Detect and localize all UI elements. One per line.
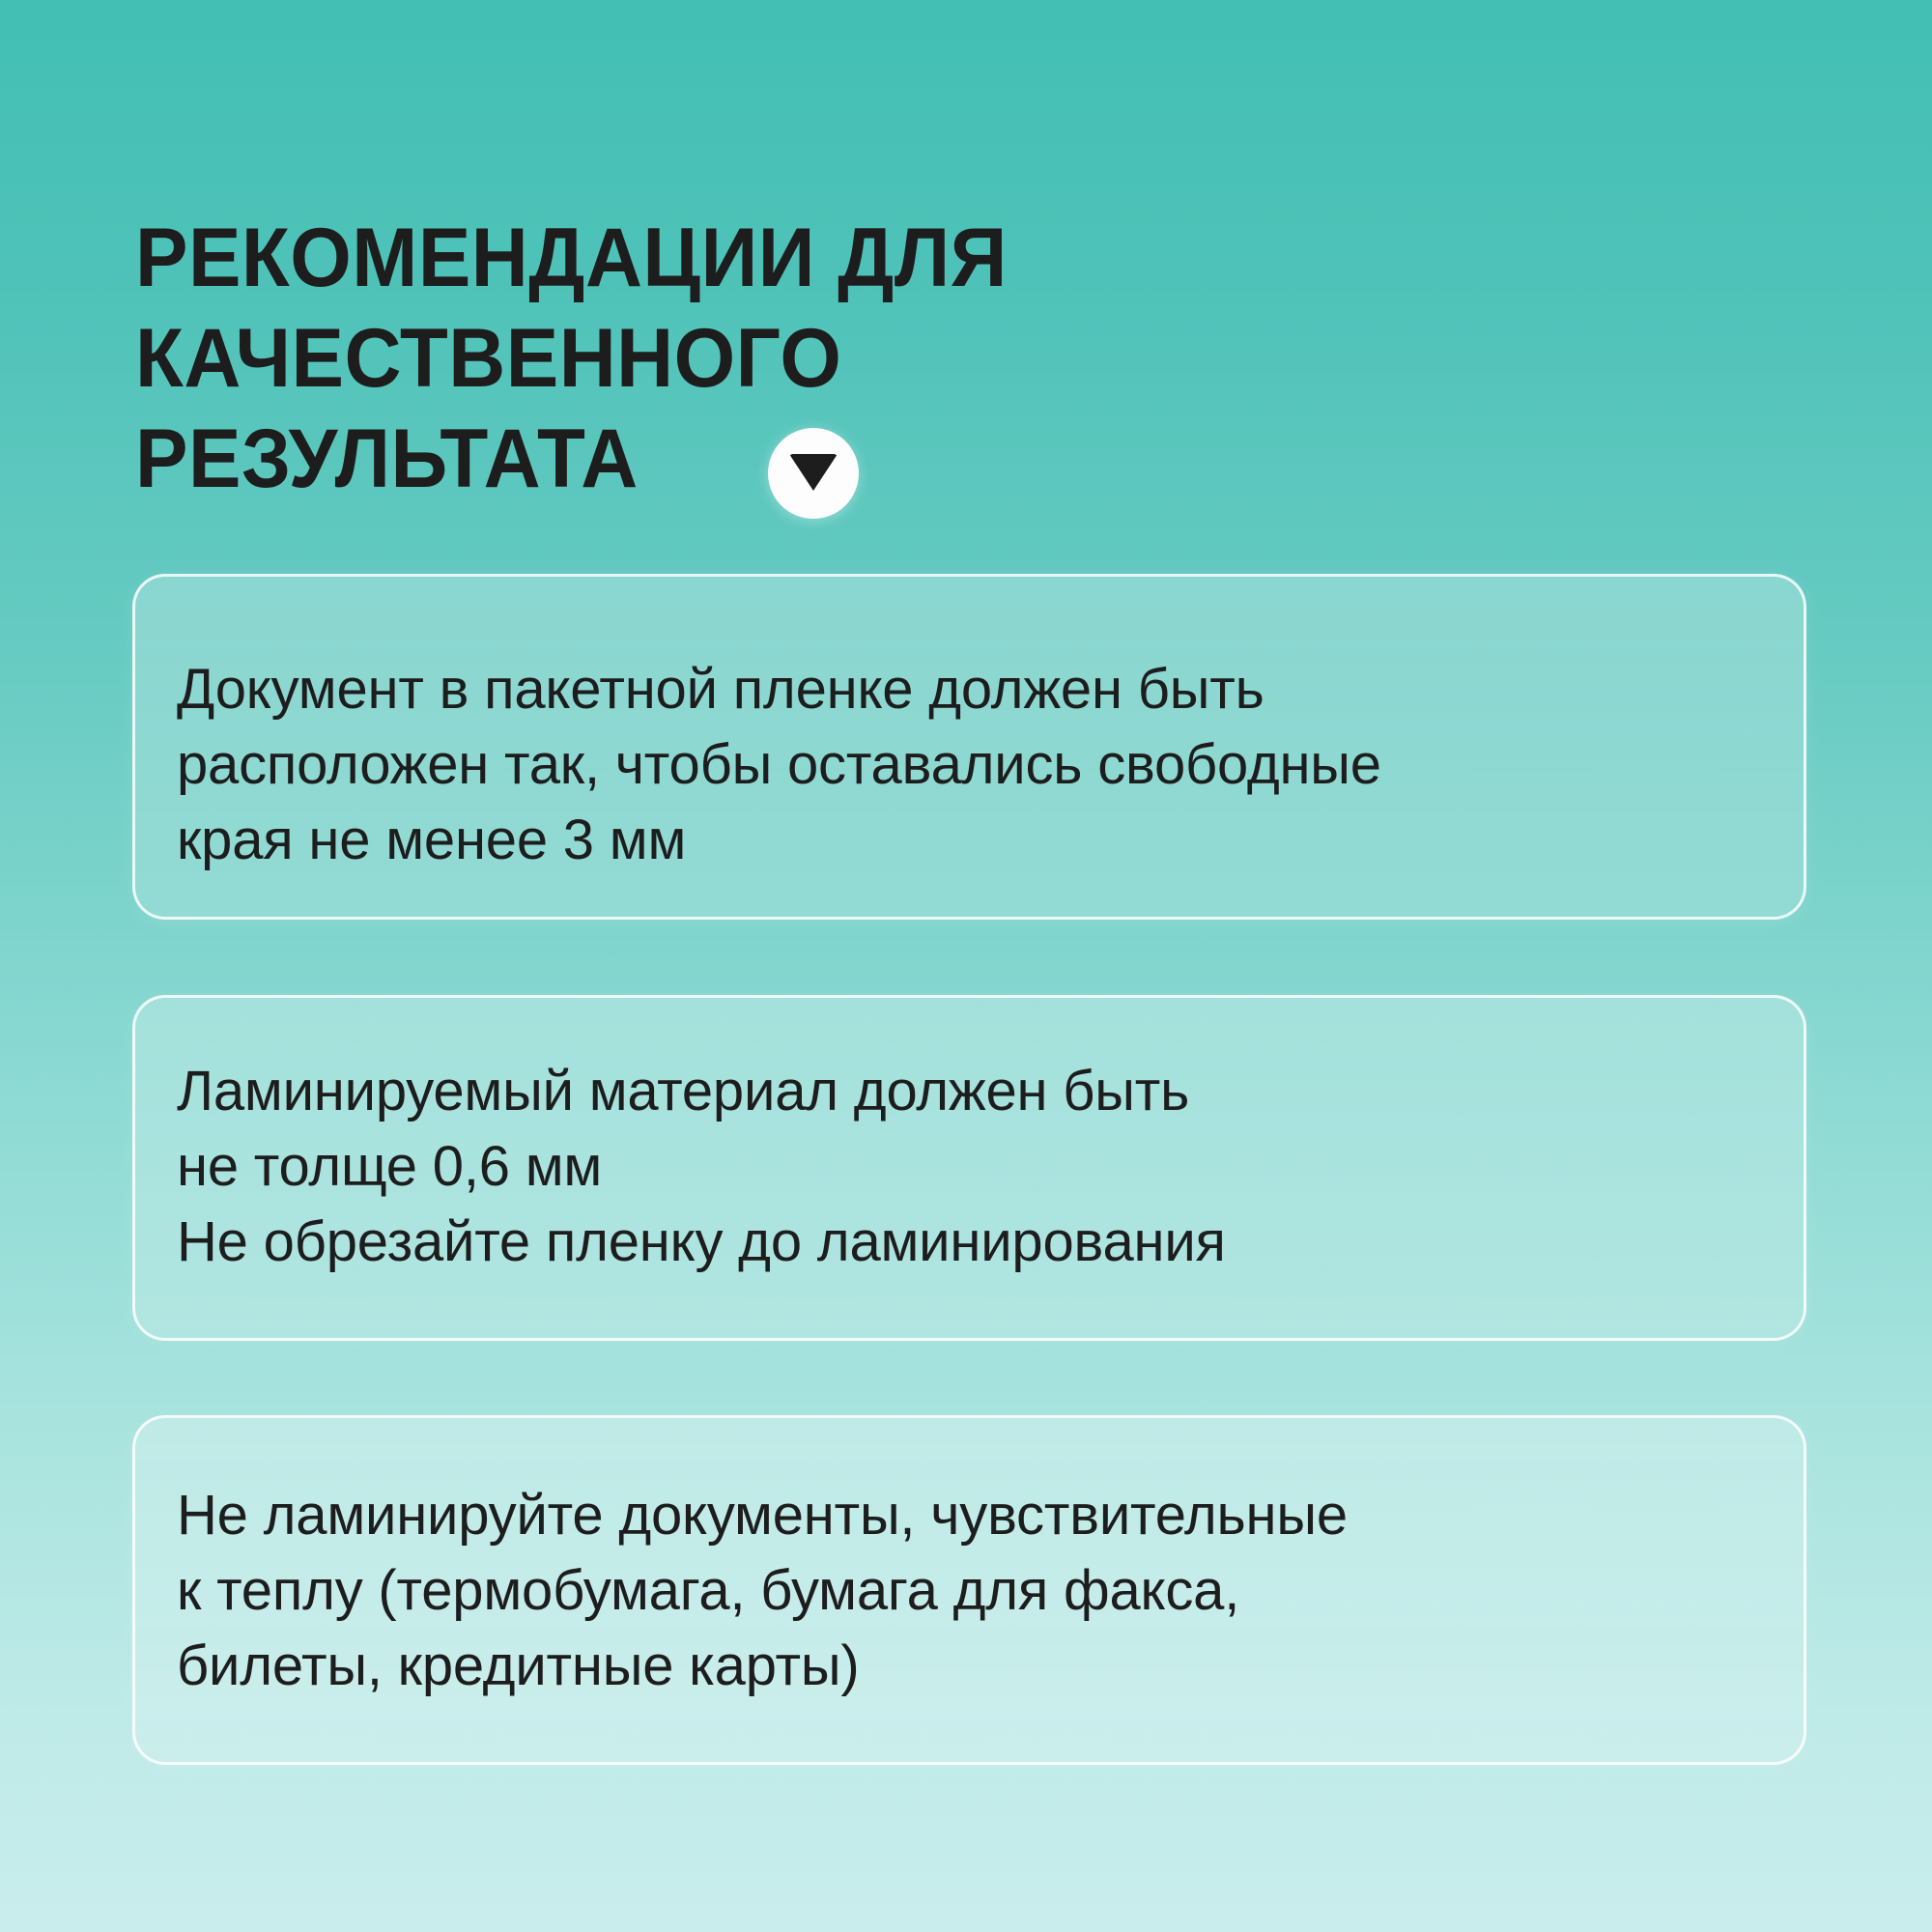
slide-root: РЕКОМЕНДАЦИИ ДЛЯ КАЧЕСТВЕННОГО РЕЗУЛЬТАТ… <box>0 0 1932 1932</box>
page-title-line-3: РЕЗУЛЬТАТА <box>135 409 1328 509</box>
recommendation-card-text: Ламинируемый материал должен быть не тол… <box>177 1054 1765 1280</box>
page-title-line-1: РЕКОМЕНДАЦИИ ДЛЯ <box>135 208 1328 308</box>
triangle-down-glyph <box>789 454 838 491</box>
recommendation-card: Ламинируемый материал должен быть не тол… <box>132 995 1806 1341</box>
page-title: РЕКОМЕНДАЦИИ ДЛЯ КАЧЕСТВЕННОГО РЕЗУЛЬТАТ… <box>135 208 1391 509</box>
recommendation-card: Документ в пакетной пленке должен быть р… <box>132 574 1806 920</box>
triangle-down-icon <box>768 428 859 519</box>
recommendation-card-text: Документ в пакетной пленке должен быть р… <box>177 652 1765 878</box>
recommendation-card-text: Не ламинируйте документы, чувствительные… <box>177 1478 1765 1704</box>
recommendation-card: Не ламинируйте документы, чувствительные… <box>132 1415 1806 1765</box>
page-title-line-2: КАЧЕСТВЕННОГО <box>135 308 1328 409</box>
